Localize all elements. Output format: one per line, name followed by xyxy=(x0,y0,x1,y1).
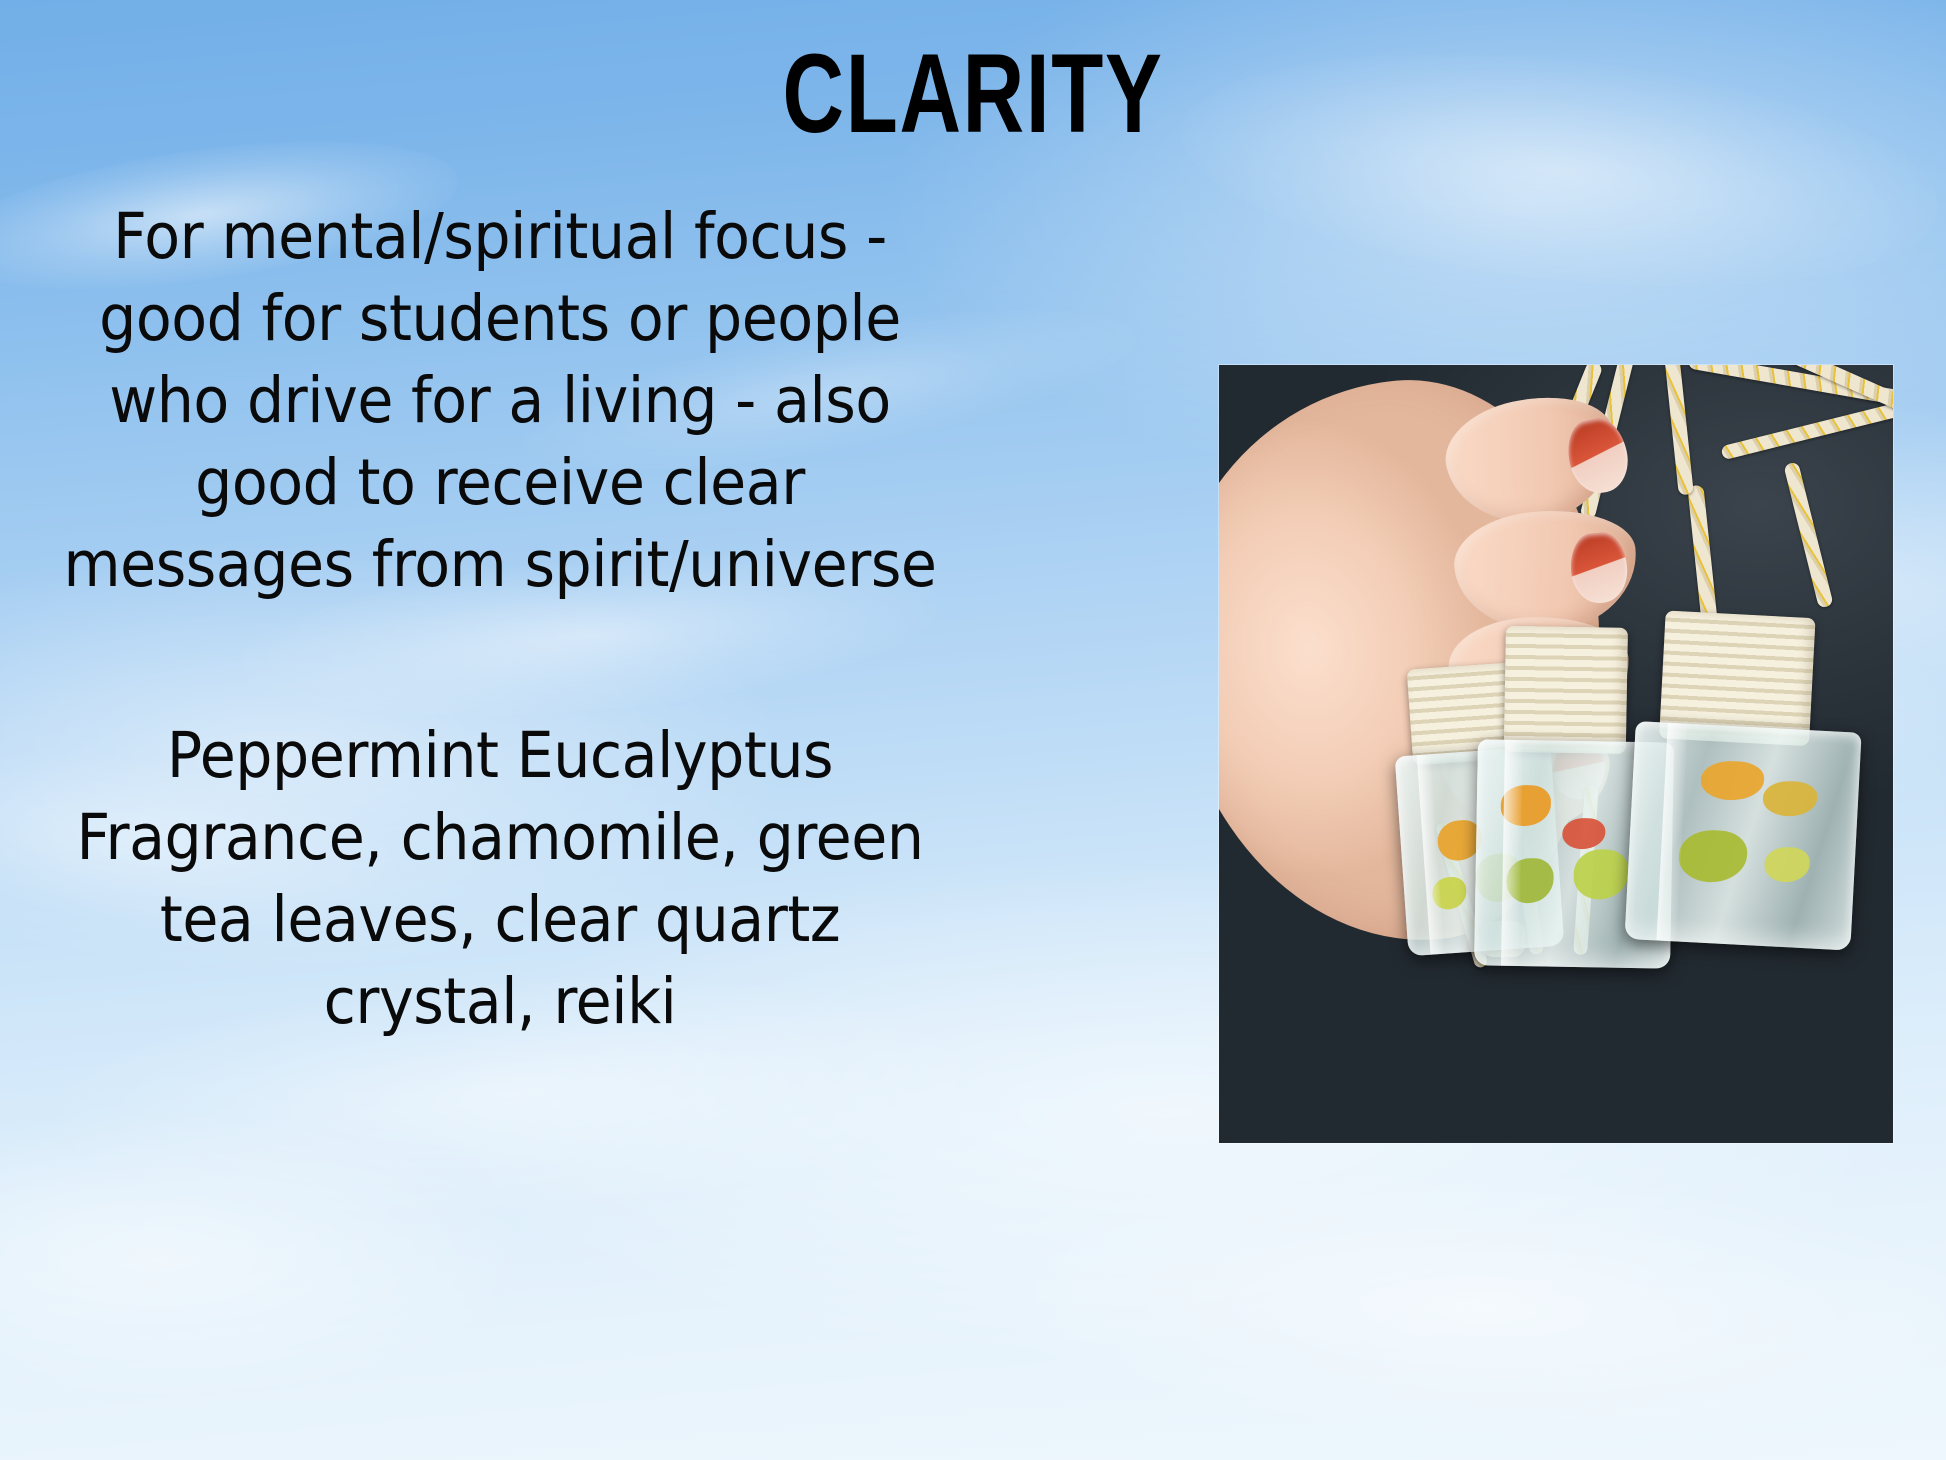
text-column: For mental/spiritual focus - good for st… xyxy=(20,196,980,1043)
diffuser-bottle xyxy=(1625,609,1872,951)
green-tea-leaf xyxy=(1431,876,1467,910)
green-tea-leaf xyxy=(1573,849,1629,900)
green-tea-leaf xyxy=(1677,828,1747,884)
page-title: CLARITY xyxy=(175,36,1771,154)
slide-canvas: CLARITY For mental/spiritual focus - goo… xyxy=(0,0,1946,1460)
dried-flower xyxy=(1700,759,1765,801)
wooden-cap xyxy=(1504,626,1628,754)
cloud-wisp xyxy=(996,1163,1946,1457)
product-photo xyxy=(1219,365,1893,1143)
dried-flower xyxy=(1562,818,1606,850)
glass-jar xyxy=(1625,721,1862,951)
dried-flower xyxy=(1500,785,1552,827)
description-paragraph: For mental/spiritual focus - good for st… xyxy=(54,196,947,605)
ingredients-paragraph: Peppermint Eucalyptus Fragrance, chamomi… xyxy=(54,715,947,1043)
green-tea-leaf xyxy=(1507,857,1555,903)
dried-flower xyxy=(1762,780,1818,818)
green-tea-leaf xyxy=(1763,846,1810,883)
